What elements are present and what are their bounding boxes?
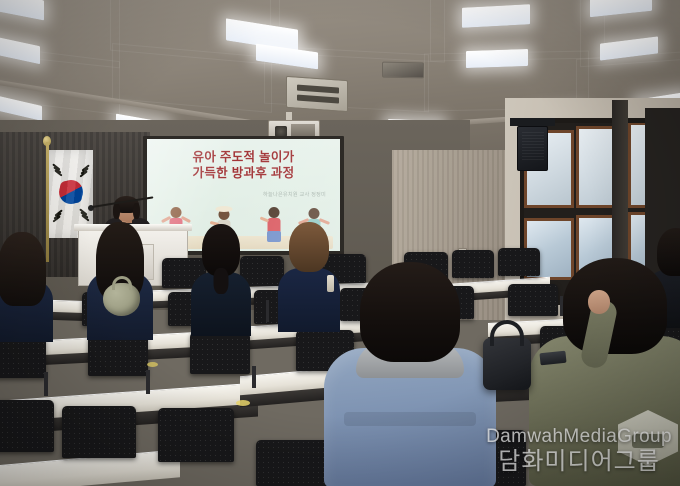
chair[interactable] <box>190 332 250 374</box>
ponytail <box>214 268 229 294</box>
pa-speaker <box>517 126 548 171</box>
chair[interactable] <box>498 248 540 276</box>
attendee-row1-left <box>0 232 52 342</box>
presenter-hair-side <box>133 203 140 219</box>
chair[interactable] <box>0 336 46 378</box>
attendee-front-khaki <box>540 258 680 486</box>
attendee-front-denim <box>330 262 490 486</box>
lecture-hall-photo: 유아 주도적 놀이가 가득한 방과후 과정 하늘나은유치원 교사 정정미 <box>0 0 680 486</box>
desk-marker <box>236 400 250 406</box>
desk-marker <box>147 362 158 367</box>
chair[interactable] <box>0 400 54 452</box>
presenter-hair-side <box>113 203 120 219</box>
led-panel-light <box>462 4 530 28</box>
water-bottle[interactable] <box>327 275 334 292</box>
speaker-bracket <box>510 118 555 126</box>
knit-handbag[interactable] <box>103 283 140 316</box>
chair[interactable] <box>62 406 136 458</box>
air-vent <box>382 62 424 79</box>
hand <box>588 290 610 314</box>
black-backpack[interactable] <box>483 338 531 390</box>
attendee-row1-center <box>190 224 252 336</box>
led-panel-light <box>466 49 528 68</box>
chair[interactable] <box>158 408 234 462</box>
chair[interactable] <box>88 334 148 376</box>
ceiling-cassette-ac <box>286 76 348 112</box>
